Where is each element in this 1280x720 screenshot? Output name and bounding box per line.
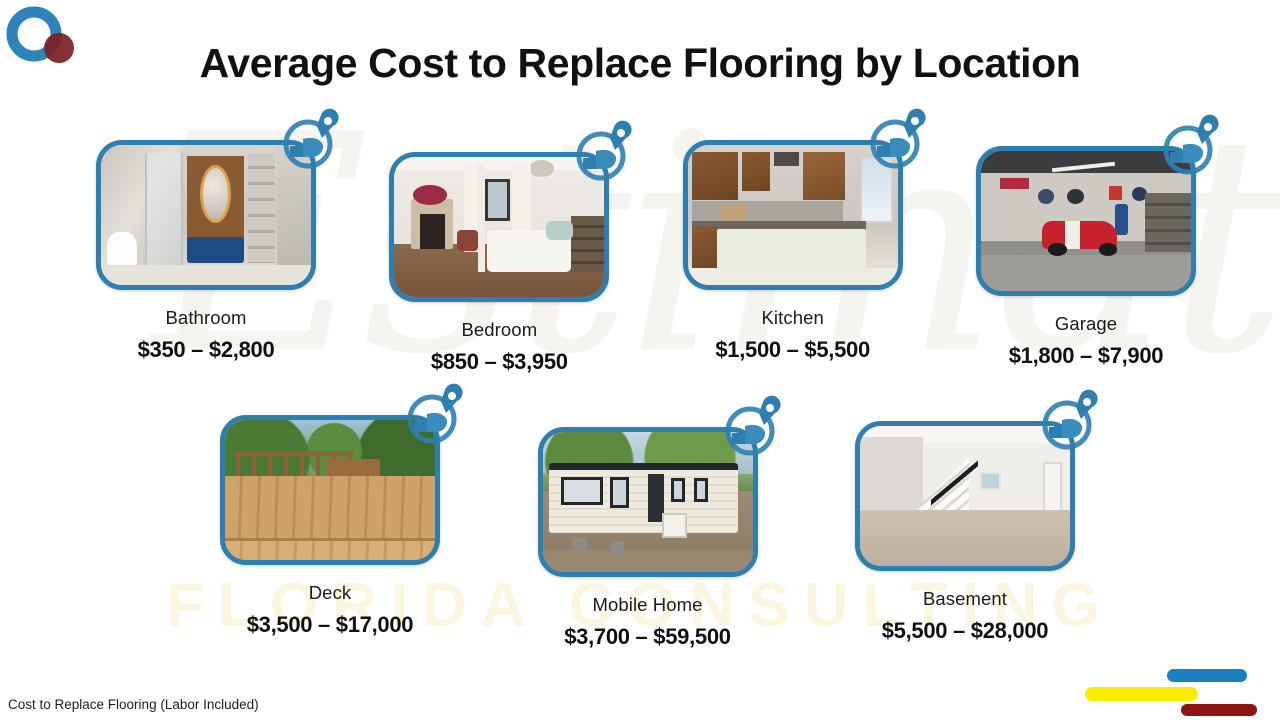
location-label: Bedroom <box>461 319 537 341</box>
location-price-range: $3,700 – $59,500 <box>564 624 730 650</box>
location-label: Kitchen <box>761 307 823 329</box>
location-card-mobile-home[interactable]: Mobile Home $3,700 – $59,500 <box>538 427 758 650</box>
location-card-basement[interactable]: Basement $5,500 – $28,000 <box>855 421 1075 650</box>
hand-holding-wrench-icon <box>571 120 637 186</box>
page-title: Average Cost to Replace Flooring by Loca… <box>0 40 1280 87</box>
location-label: Basement <box>923 588 1007 610</box>
location-card-deck[interactable]: Deck $3,500 – $17,000 <box>220 415 440 650</box>
locations-row-bottom: Deck $3,500 – $17,000 Mobile Home $3, <box>220 415 1075 650</box>
location-label: Bathroom <box>165 307 246 329</box>
hand-holding-wrench-icon <box>402 383 468 449</box>
location-card-kitchen[interactable]: Kitchen $1,500 – $5,500 <box>683 140 903 375</box>
location-label: Garage <box>1055 313 1117 335</box>
location-price-range: $1,500 – $5,500 <box>715 337 870 363</box>
location-label: Deck <box>309 582 352 604</box>
hand-holding-wrench-icon <box>1158 114 1224 180</box>
locations-row-top: Bathroom $350 – $2,800 Bedroom $850 – <box>96 140 1196 375</box>
location-price-range: $5,500 – $28,000 <box>882 618 1048 644</box>
location-label: Mobile Home <box>592 594 702 616</box>
hand-holding-wrench-icon <box>1037 389 1103 455</box>
decorative-bar-red <box>1181 704 1257 716</box>
hand-holding-wrench-icon <box>865 108 931 174</box>
location-card-garage[interactable]: Garage $1,800 – $7,900 <box>976 146 1196 375</box>
hand-holding-wrench-icon <box>720 395 786 461</box>
location-card-bathroom[interactable]: Bathroom $350 – $2,800 <box>96 140 316 375</box>
location-price-range: $350 – $2,800 <box>138 337 275 363</box>
decorative-bar-blue <box>1167 669 1247 682</box>
location-card-bedroom[interactable]: Bedroom $850 – $3,950 <box>389 152 609 375</box>
location-price-range: $3,500 – $17,000 <box>247 612 413 638</box>
decorative-bar-yellow <box>1085 687 1198 701</box>
hand-holding-wrench-icon <box>278 108 344 174</box>
brand-logo <box>4 6 80 68</box>
location-price-range: $1,800 – $7,900 <box>1009 343 1164 369</box>
footer-note: Cost to Replace Flooring (Labor Included… <box>8 697 259 712</box>
location-price-range: $850 – $3,950 <box>431 349 568 375</box>
